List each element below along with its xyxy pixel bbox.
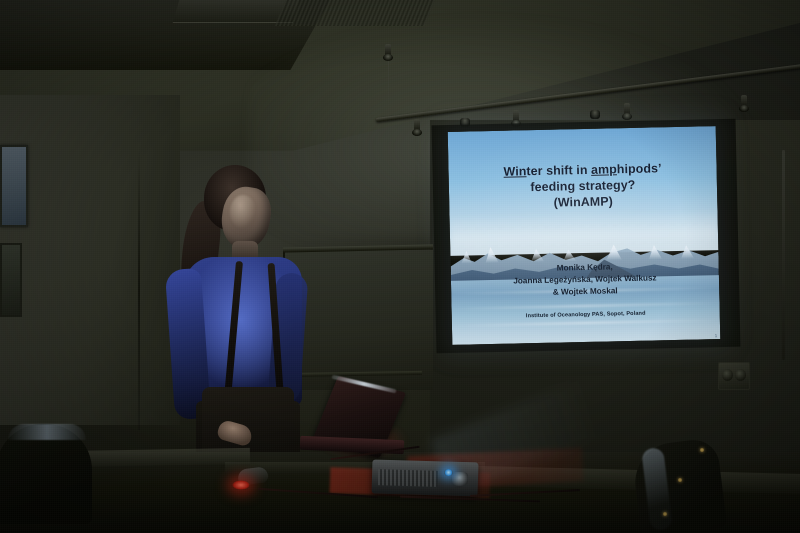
framed-picture-icon: [0, 145, 28, 227]
ceiling-hook-icon: [624, 103, 630, 117]
slide-title-underline-win: Win: [503, 164, 526, 178]
ceiling-hook-icon: [414, 119, 420, 133]
rail-clip-icon: [590, 110, 600, 119]
ceiling-hook-icon: [385, 44, 391, 58]
slide-title: Winter shift in amphipods’ feeding strat…: [448, 160, 717, 213]
chair-left-highlight: [8, 424, 86, 440]
chair-rivet: [700, 448, 704, 452]
chair-rivet: [678, 478, 682, 482]
projection-screen: Winter shift in amphipods’ feeding strat…: [448, 126, 721, 345]
projector-power-led-icon: [444, 469, 453, 476]
slide-page-number: 1: [715, 333, 718, 338]
projector-lens: [452, 472, 468, 487]
ceiling-hook-icon: [513, 110, 519, 124]
wall-corner-edge: [138, 150, 140, 430]
ceiling-hook-icon: [741, 95, 747, 109]
wall-power-socket[interactable]: [718, 362, 750, 390]
projector-vent: [378, 469, 438, 487]
slide-authors: Monika Kędra, Joanna Legeżyńska, Wojtek …: [451, 259, 720, 301]
wall-pipe: [782, 150, 785, 360]
mouse-led-icon: [232, 480, 250, 490]
chair-rivet: [663, 512, 667, 516]
framed-picture-lower-icon: [0, 243, 22, 317]
presentation-room-photo: Winter shift in amphipods’ feeding strat…: [0, 0, 800, 533]
presenter-face-highlight: [230, 195, 256, 229]
slide-title-underline-amp: amp: [591, 162, 617, 177]
hanging-wire: [388, 52, 389, 118]
